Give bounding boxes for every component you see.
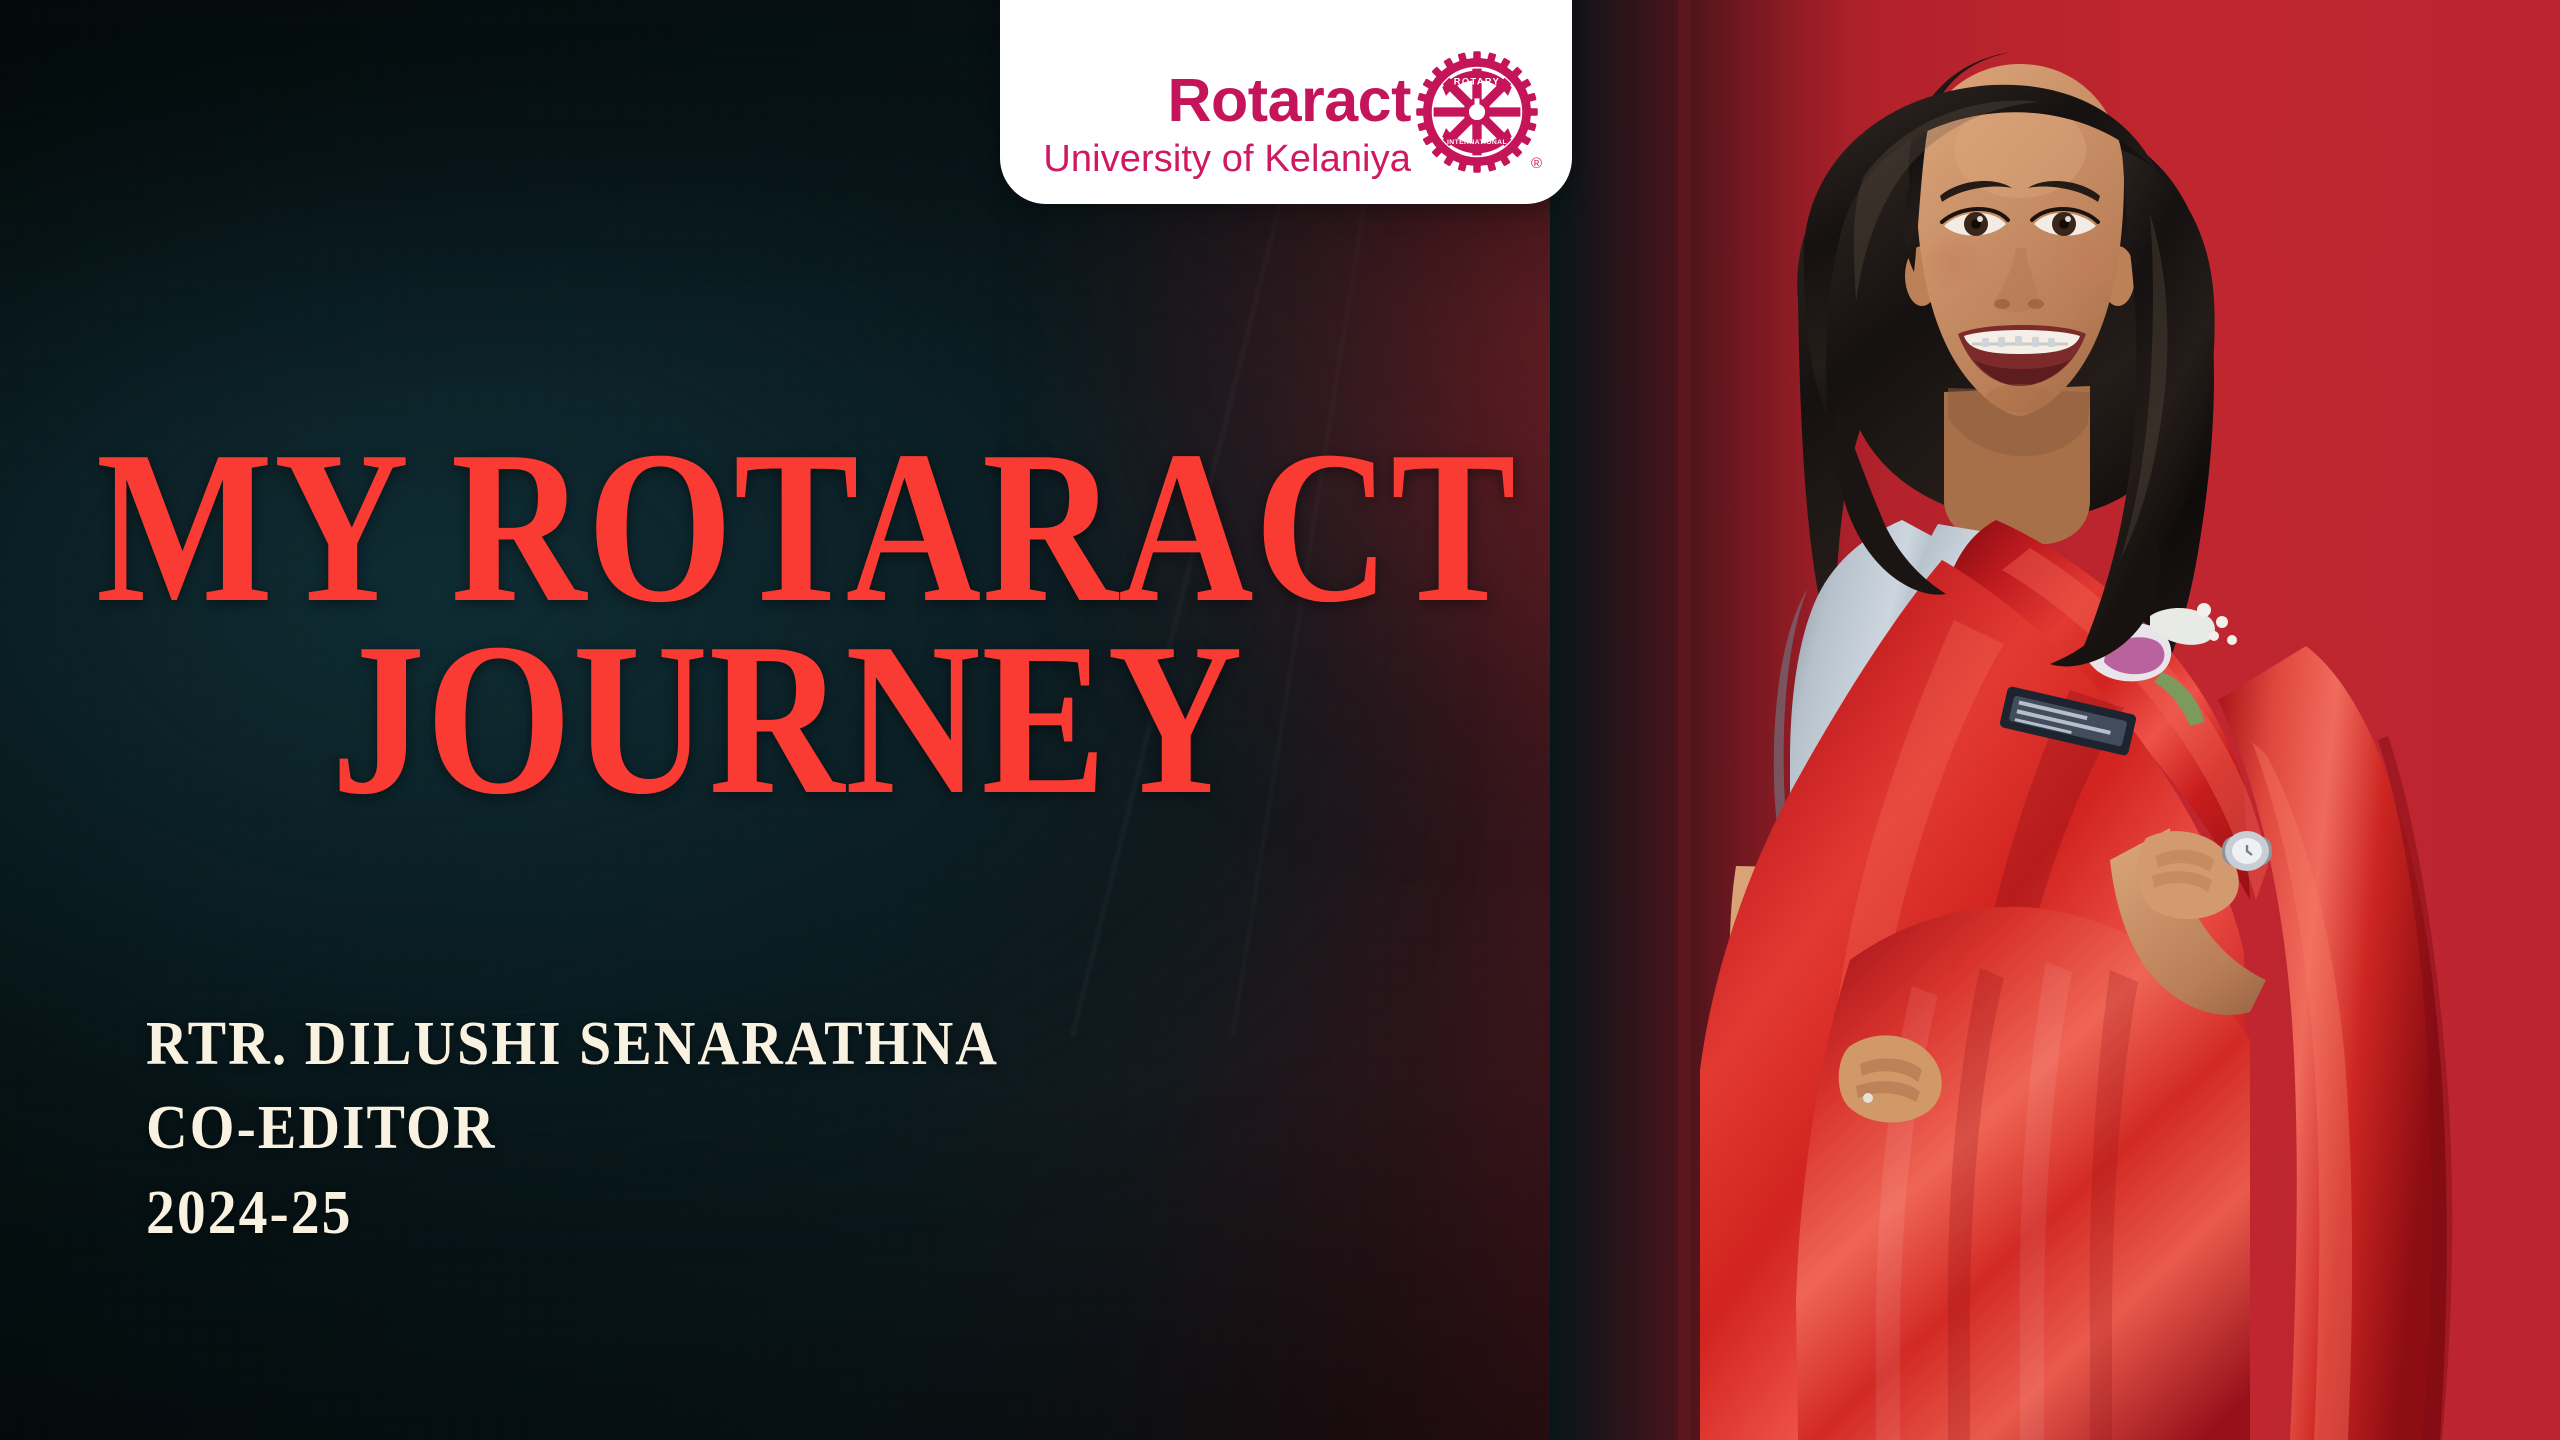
headline-line-1: MY ROTARACT [96,432,1420,624]
poster-headline: MY ROTARACT JOURNEY [96,432,1420,816]
rotary-emblem-top-text: ROTARY [1454,77,1500,87]
poster-canvas: Rotaract University of Kelaniya [0,0,2560,1440]
rotary-emblem-bottom-text: INTERNATIONAL [1447,139,1507,146]
logo-organization-text: University of Kelaniya [1043,140,1411,178]
credit-block: RTR. DILUSHI SENARATHNA CO-EDITOR 2024-2… [146,1002,999,1255]
rotaract-logo-card: Rotaract University of Kelaniya [1000,0,1572,204]
logo-brand-text: Rotaract [1167,70,1410,131]
registered-trademark-mark: ® [1531,155,1542,172]
credit-name: RTR. DILUSHI SENARATHNA [146,1002,999,1086]
rotary-wheel-icon: ROTARY INTERNATIONAL [1415,50,1539,174]
headline-line-2: JOURNEY [48,624,1527,816]
credit-role: CO-EDITOR [146,1086,999,1170]
credit-term: 2024-25 [146,1171,999,1255]
